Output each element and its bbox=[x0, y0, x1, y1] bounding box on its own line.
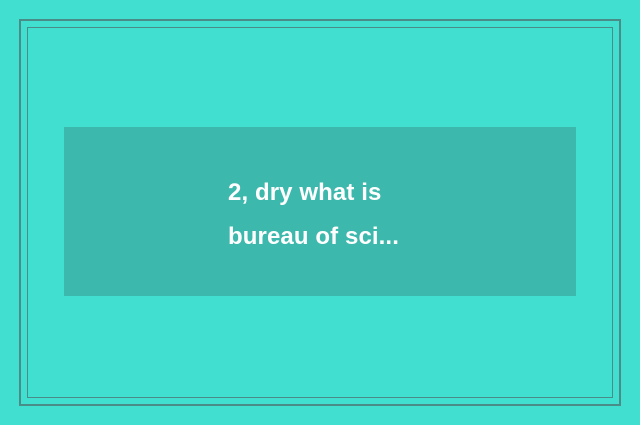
caption-text: 2, dry what is bureau of sci... bbox=[228, 171, 558, 259]
caption-panel: 2, dry what is bureau of sci... bbox=[64, 127, 576, 296]
image-canvas: 2, dry what is bureau of sci... bbox=[0, 0, 640, 425]
